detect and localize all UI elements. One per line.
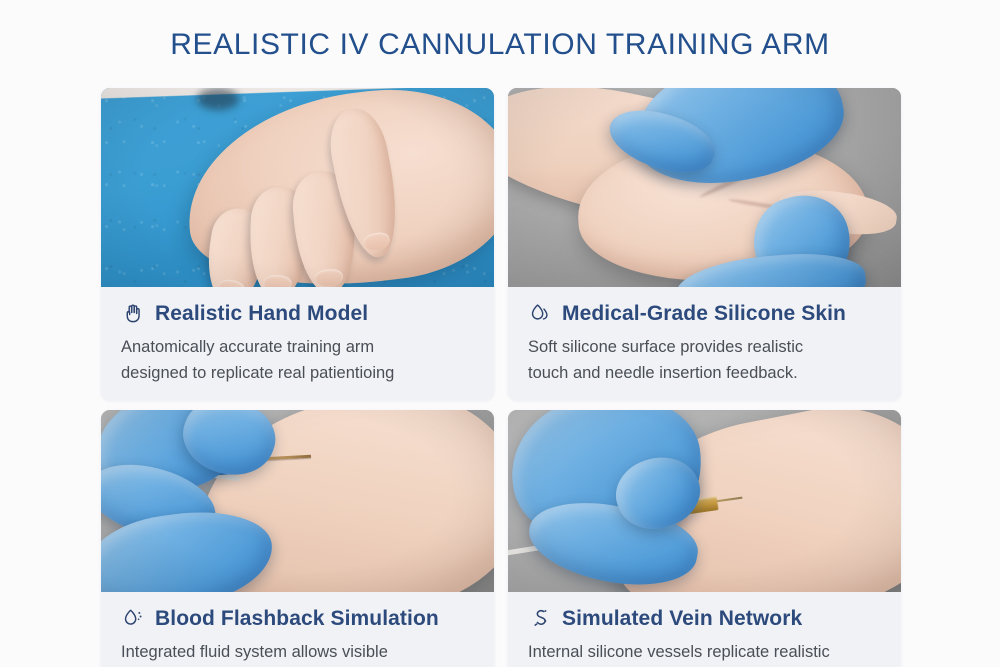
card-heading: Realistic Hand Model: [121, 301, 474, 326]
card-description: Soft silicone surface provides realistic…: [528, 334, 881, 386]
infographic-page: REALISTIC IV CANNULATION TRAINING ARM: [0, 0, 1000, 667]
card-heading: Medical-Grade Silicone Skin: [528, 301, 881, 326]
card-body: Medical-Grade Silicone Skin Soft silicon…: [508, 287, 901, 386]
card-description-line: Internal silicone vessels replicate real…: [528, 639, 881, 665]
feature-card-medical-grade-silicone-skin[interactable]: Medical-Grade Silicone Skin Soft silicon…: [508, 88, 901, 400]
card-body: Realistic Hand Model Anatomically accura…: [101, 287, 494, 386]
feature-card-grid: Realistic Hand Model Anatomically accura…: [101, 88, 901, 667]
droplet-icon: [528, 301, 553, 326]
card-description-line: Soft silicone surface provides realistic: [528, 334, 881, 360]
needle-insertion-with-flashback-photo: [508, 410, 901, 592]
feature-card-realistic-hand-model[interactable]: Realistic Hand Model Anatomically accura…: [101, 88, 494, 400]
page-title: REALISTIC IV CANNULATION TRAINING ARM: [0, 28, 1000, 62]
card-title: Realistic Hand Model: [155, 302, 368, 326]
card-photo-blood-flashback-simulation: [101, 410, 494, 592]
photo-hand-shape: [176, 88, 494, 287]
cannulation-on-training-arm-photo: [101, 410, 494, 592]
card-description: Internal silicone vessels replicate real…: [528, 639, 881, 667]
photo-shadow-detail: [197, 88, 239, 110]
card-description-line: touch and needle insertion feedback.: [528, 360, 881, 386]
vein-network-icon: [528, 606, 553, 631]
card-description-line: Anatomically accurate training arm: [121, 334, 474, 360]
card-photo-simulated-vein-network: [508, 410, 901, 592]
card-description: Integrated fluid system allows visible v…: [121, 639, 474, 667]
hand-icon: [121, 301, 146, 326]
blood-drop-splash-icon: [121, 606, 146, 631]
card-photo-realistic-hand-model: [101, 88, 494, 287]
card-title: Simulated Vein Network: [562, 607, 802, 631]
prosthetic-hand-on-blue-drape-photo: [101, 88, 494, 287]
card-description: Anatomically accurate training arm desig…: [121, 334, 474, 386]
card-title: Medical-Grade Silicone Skin: [562, 302, 846, 326]
card-body: Blood Flashback Simulation Integrated fl…: [101, 592, 494, 667]
card-description-line: Integrated fluid system allows visible: [121, 639, 474, 665]
card-description-line: designed to replicate real patientioing: [121, 360, 474, 386]
feature-card-simulated-vein-network[interactable]: Simulated Vein Network Internal silicone…: [508, 410, 901, 667]
card-title: Blood Flashback Simulation: [155, 607, 439, 631]
feature-card-blood-flashback-simulation[interactable]: Blood Flashback Simulation Integrated fl…: [101, 410, 494, 667]
card-heading: Blood Flashback Simulation: [121, 606, 474, 631]
card-body: Simulated Vein Network Internal silicone…: [508, 592, 901, 667]
gloved-hands-palpating-silicone-hand-photo: [508, 88, 901, 287]
card-heading: Simulated Vein Network: [528, 606, 881, 631]
card-photo-medical-grade-silicone-skin: [508, 88, 901, 287]
